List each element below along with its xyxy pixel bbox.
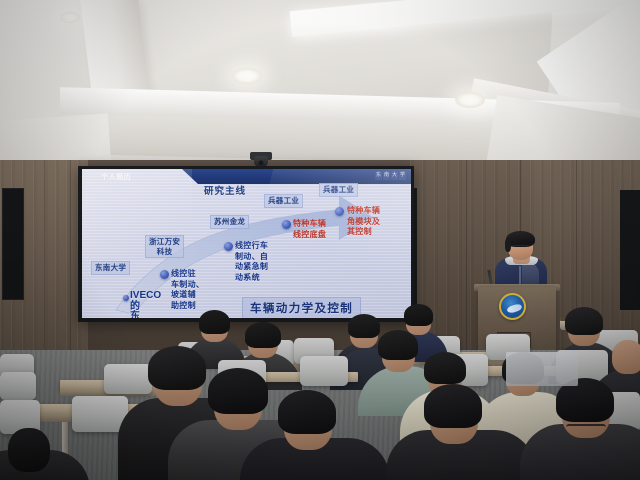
desk-row3-left-leg (62, 422, 68, 456)
chair-r2-c6[interactable] (0, 372, 36, 400)
wood-seam-3 (466, 160, 467, 365)
node-dot-2 (160, 270, 169, 279)
downlight-3 (60, 12, 80, 23)
chair-r2-c1[interactable] (104, 364, 152, 394)
affiliation-box-4: 兵器工业 (264, 194, 303, 208)
wall-dark-panel-left (2, 188, 24, 300)
node-label-5: 特种车辆 角模块及 其控制 (347, 206, 380, 238)
attendee-10-head (612, 340, 640, 374)
node-label-4: 特种车辆 线控底盘 (293, 219, 326, 240)
ceiling (0, 0, 640, 175)
attendee-1-hair (199, 310, 230, 334)
node-dot-3 (224, 242, 233, 251)
downlight-2 (455, 92, 485, 108)
downlight-1 (232, 68, 262, 84)
wood-seam-1 (44, 160, 45, 365)
attendee-5-hair (404, 304, 433, 326)
attendee-2-hair (245, 322, 281, 348)
wood-seam-2 (70, 160, 71, 365)
attendee-7-hair (378, 330, 418, 360)
attendee-11-hair (148, 346, 206, 390)
attendee-3-hair (348, 314, 380, 338)
node-dot-5 (335, 207, 344, 216)
speaker-hair-side (505, 238, 511, 252)
projection-screen[interactable]: 个人简历 东 南 大 学 研究主线 东南大学 (78, 166, 414, 322)
affiliation-box-1: 东南大学 (91, 261, 130, 275)
slide-surface: 个人简历 东 南 大 学 研究主线 东南大学 (82, 169, 411, 318)
affiliation-box-5: 兵器工业 (319, 183, 358, 197)
node-dot-1 (123, 295, 129, 301)
affiliation-box-3: 苏州金龙 (210, 215, 249, 229)
attendee-12-hair (208, 368, 268, 414)
attendee-14-hair (424, 384, 482, 428)
node-label-2: 线控驻 车制动、 坡道辅 助控制 (171, 269, 204, 311)
attendee-6-hair (565, 307, 603, 335)
lecture-room-photo: 个人简历 东 南 大 学 研究主线 东南大学 (0, 0, 640, 480)
node-label-1: IVECO 的 东 (130, 291, 161, 318)
podium-seal-icon (499, 293, 526, 320)
laptop-screen[interactable] (506, 352, 578, 386)
attendee-13-hair (278, 390, 336, 434)
node-dot-4 (282, 220, 291, 229)
attendee-8-hair (424, 352, 466, 384)
node-label-3: 线控行车 制动、自 动紧急制 动系统 (235, 241, 268, 283)
chair-r2-c3[interactable] (300, 356, 348, 386)
slide-bottom-banner: 车辆动力学及控制 (242, 297, 361, 318)
attendee-15-glasses-icon (566, 424, 606, 430)
affiliation-box-2: 浙江万安 科技 (145, 235, 184, 258)
wall-dark-panel-right (620, 190, 640, 310)
speaker-glasses-icon (512, 245, 529, 249)
attendee-16-head (8, 428, 50, 472)
